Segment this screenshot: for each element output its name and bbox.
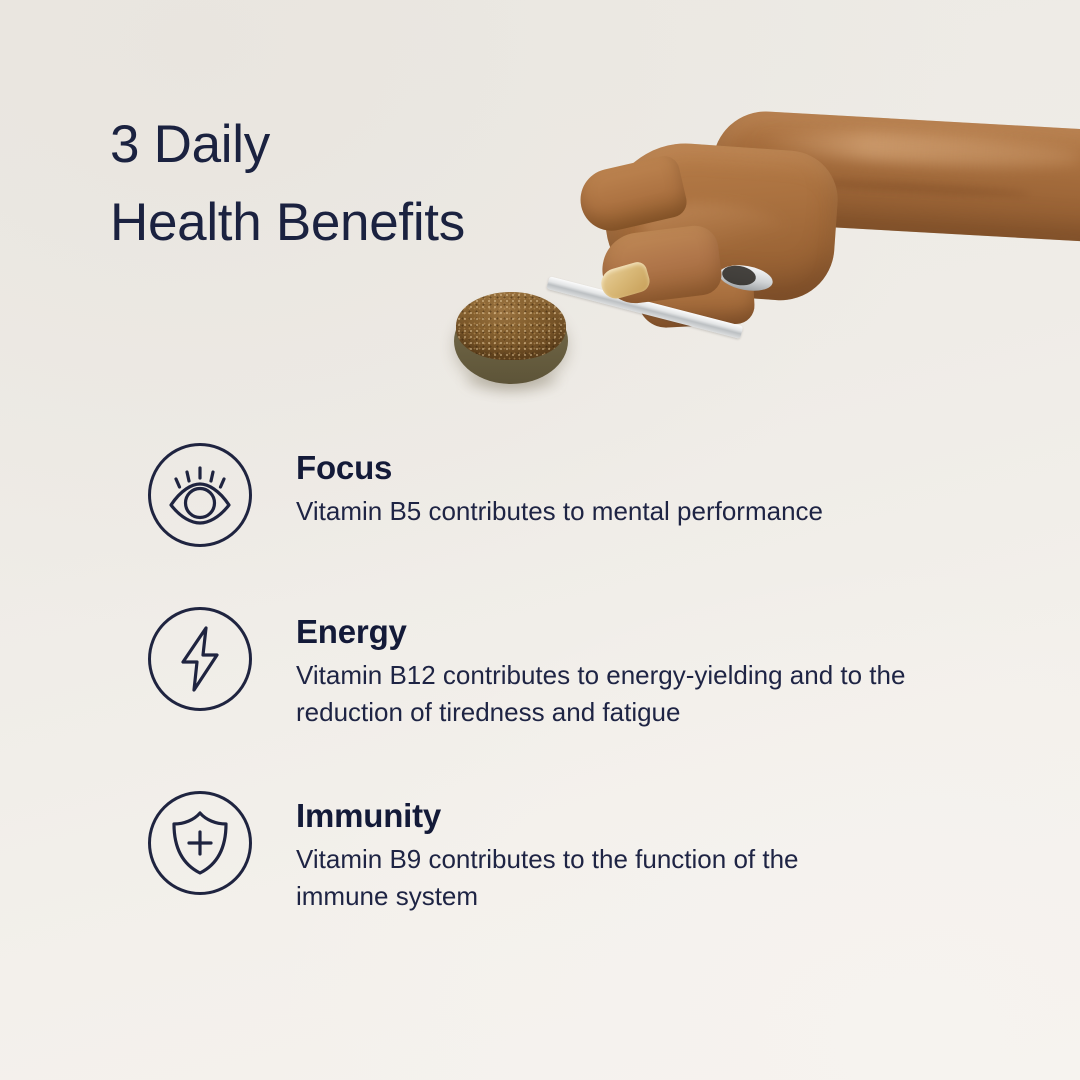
benefit-text-energy: Energy Vitamin B12 contributes to energy… — [296, 605, 944, 731]
benefit-item-energy: Energy Vitamin B12 contributes to energy… — [148, 605, 1008, 731]
product-photo — [430, 120, 1080, 410]
benefit-description: Vitamin B12 contributes to energy-yieldi… — [296, 657, 944, 731]
benefits-list: Focus Vitamin B5 contributes to mental p… — [148, 441, 1008, 915]
benefit-item-focus: Focus Vitamin B5 contributes to mental p… — [148, 441, 1008, 547]
powder-grain-texture — [456, 292, 566, 360]
page-title: 3 Daily Health Benefits — [110, 104, 465, 264]
product-benefits-infographic: 3 Daily Health Benefits — [0, 0, 1080, 1080]
eye-icon — [148, 443, 252, 547]
benefit-description: Vitamin B5 contributes to mental perform… — [296, 493, 823, 530]
headline-line-2: Health Benefits — [110, 182, 465, 264]
benefit-item-immunity: Immunity Vitamin B9 contributes to the f… — [148, 789, 1008, 915]
benefit-description: Vitamin B9 contributes to the function o… — [296, 841, 876, 915]
lightning-bolt-icon — [148, 607, 252, 711]
brown-powder-scoop — [456, 292, 566, 360]
benefit-title: Energy — [296, 613, 944, 651]
headline-line-1: 3 Daily — [110, 104, 465, 186]
benefit-title: Immunity — [296, 797, 876, 835]
benefit-text-immunity: Immunity Vitamin B9 contributes to the f… — [296, 789, 876, 915]
benefit-text-focus: Focus Vitamin B5 contributes to mental p… — [296, 441, 823, 530]
shield-plus-icon — [148, 791, 252, 895]
benefit-title: Focus — [296, 449, 823, 487]
